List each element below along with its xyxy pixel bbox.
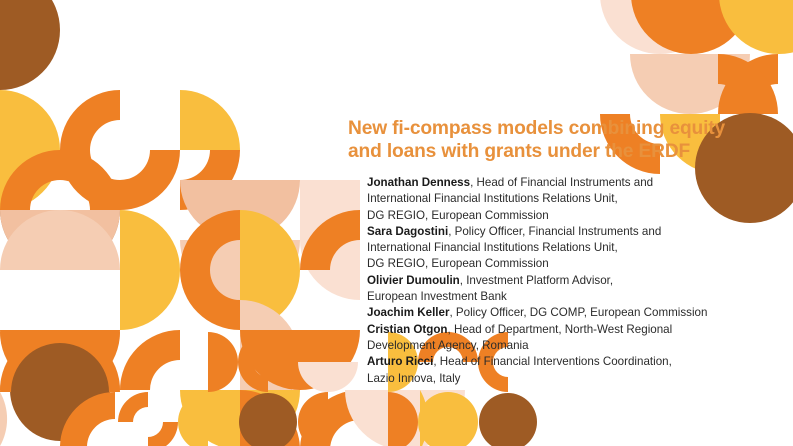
footer: #ficompass	[0, 386, 793, 446]
speaker-name: Cristian Otgon	[367, 323, 448, 336]
speaker-line: DG REGIO, European Commission	[367, 208, 767, 224]
speaker-line: Olivier Dumoulin, Investment Platform Ad…	[367, 273, 767, 289]
speaker-line: International Financial Institutions Rel…	[367, 240, 767, 256]
speaker-role: , Head of Department, North-West Regiona…	[448, 323, 673, 336]
title-line-2: and loans with grants under the ERDF	[348, 141, 766, 164]
speaker-name: Olivier Dumoulin	[367, 274, 460, 287]
speaker-name: Arturo Ricci	[367, 355, 433, 368]
page-title: New fi-compass models combining equity a…	[348, 118, 766, 163]
speaker-name: Sara Dagostini	[367, 225, 448, 238]
speaker-line: Cristian Otgon, Head of Department, Nort…	[367, 322, 767, 338]
speaker-line: Lazio Innova, Italy	[367, 371, 767, 387]
speaker-entry: Joachim Keller, Policy Officer, DG COMP,…	[367, 305, 767, 321]
speaker-line: Joachim Keller, Policy Officer, DG COMP,…	[367, 305, 767, 321]
speaker-entry: Arturo Ricci, Head of Financial Interven…	[367, 354, 767, 387]
speaker-name: Joachim Keller	[367, 306, 449, 319]
title-line-1: New fi-compass models combining equity	[348, 118, 766, 141]
speaker-entry: Olivier Dumoulin, Investment Platform Ad…	[367, 273, 767, 306]
speaker-entry: Cristian Otgon, Head of Department, Nort…	[367, 322, 767, 355]
speaker-line: Jonathan Denness, Head of Financial Inst…	[367, 175, 767, 191]
speaker-line: International Financial Institutions Rel…	[367, 191, 767, 207]
speaker-line: European Investment Bank	[367, 289, 767, 305]
speaker-role: , Head of Financial Interventions Coordi…	[433, 355, 671, 368]
speaker-entry: Sara Dagostini, Policy Officer, Financia…	[367, 224, 767, 273]
content-layer: New fi-compass models combining equity a…	[0, 0, 793, 446]
speaker-role: , Investment Platform Advisor,	[460, 274, 613, 287]
speaker-list: Jonathan Denness, Head of Financial Inst…	[367, 175, 767, 387]
speaker-role: , Head of Financial Instruments and	[470, 176, 653, 189]
speaker-name: Jonathan Denness	[367, 176, 470, 189]
slide-canvas: New fi-compass models combining equity a…	[0, 0, 793, 446]
speaker-role: , Policy Officer, Financial Instruments …	[448, 225, 661, 238]
speaker-line: Sara Dagostini, Policy Officer, Financia…	[367, 224, 767, 240]
speaker-line: Development Agency, Romania	[367, 338, 767, 354]
speaker-line: Arturo Ricci, Head of Financial Interven…	[367, 354, 767, 370]
speaker-entry: Jonathan Denness, Head of Financial Inst…	[367, 175, 767, 224]
speaker-role: , Policy Officer, DG COMP, European Comm…	[449, 306, 707, 319]
speaker-line: DG REGIO, European Commission	[367, 256, 767, 272]
